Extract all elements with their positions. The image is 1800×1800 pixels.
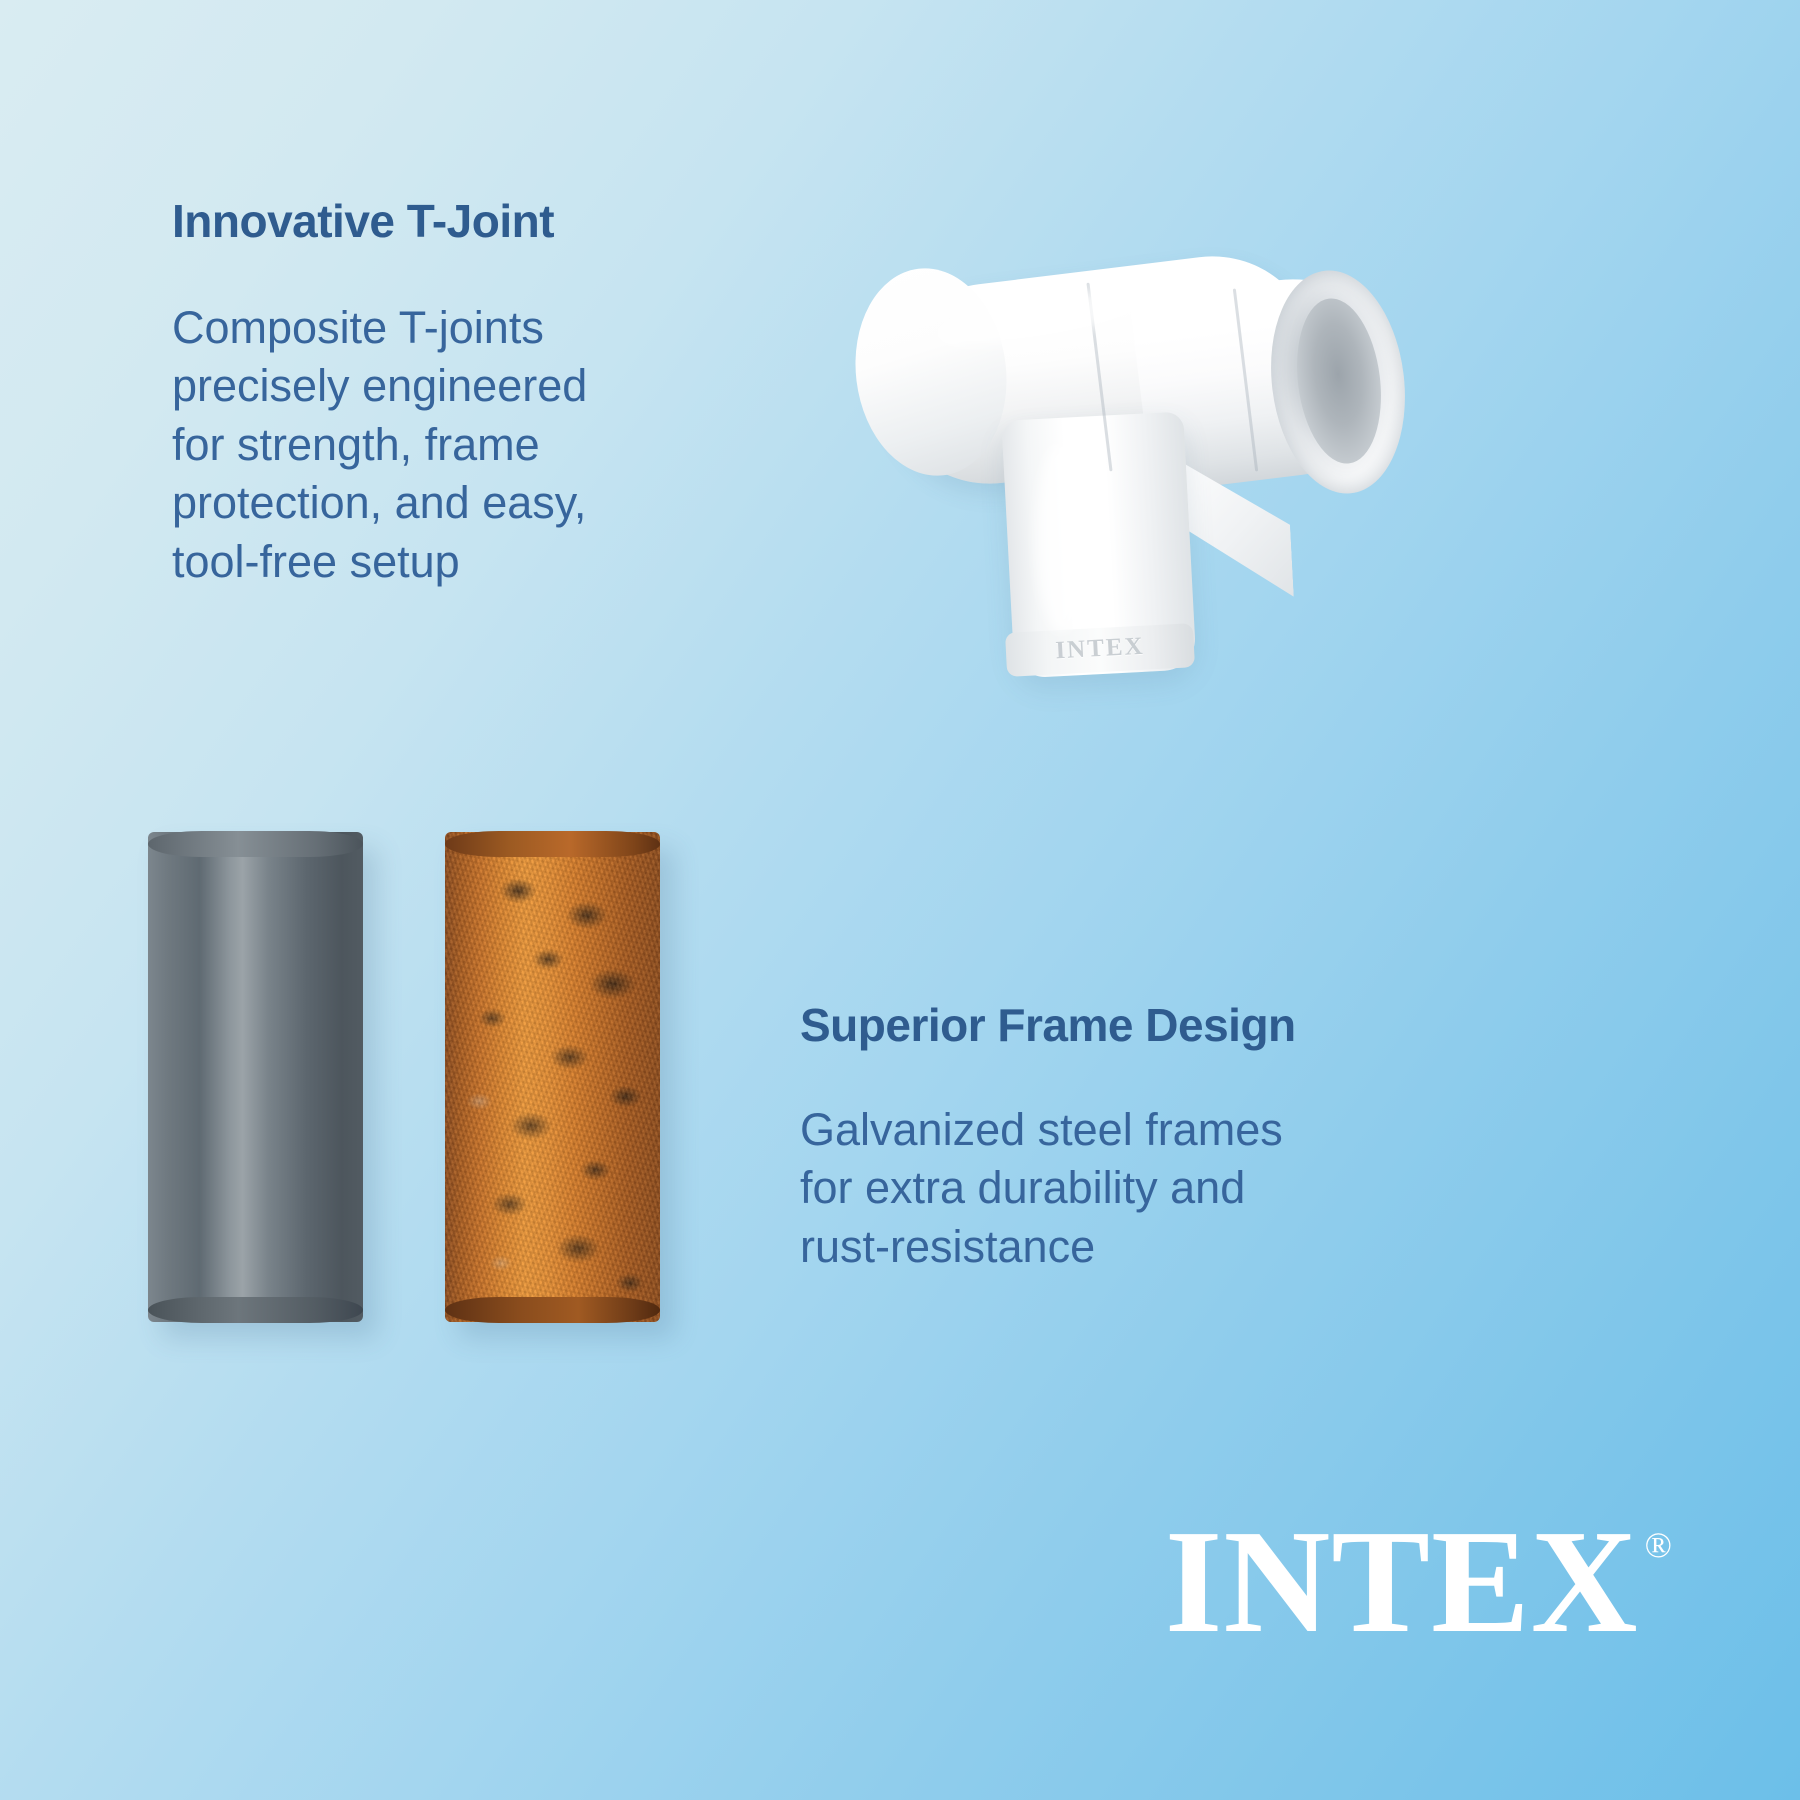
- feature-body-t-joint: Composite T-joints precisely engineered …: [172, 299, 792, 592]
- registered-trademark-icon: ®: [1645, 1527, 1672, 1563]
- feature-block-frame-design: Superior Frame Design Galvanized steel f…: [800, 1000, 1500, 1276]
- feature-heading-t-joint: Innovative T-Joint: [172, 196, 792, 247]
- body-line: tool-free setup: [172, 533, 792, 592]
- pipe-bottom-edge: [445, 1297, 660, 1323]
- feature-block-t-joint: Innovative T-Joint Composite T-joints pr…: [172, 196, 792, 591]
- body-line: for extra durability and: [800, 1159, 1500, 1218]
- intex-logo: INTEX ®: [1165, 1513, 1672, 1652]
- pipe-comparison-group: [148, 832, 708, 1332]
- logo-wordmark: INTEX: [1165, 1513, 1639, 1652]
- galvanized-steel-pipe-sample: [148, 832, 363, 1322]
- feature-body-frame-design: Galvanized steel frames for extra durabi…: [800, 1101, 1500, 1277]
- body-line: protection, and easy,: [172, 474, 792, 533]
- t-joint-product-image: INTEX: [840, 150, 1460, 730]
- product-infographic: Innovative T-Joint Composite T-joints pr…: [0, 0, 1800, 1800]
- body-line: precisely engineered: [172, 357, 792, 416]
- rusted-steel-pipe-sample: [445, 832, 660, 1322]
- body-line: rust-resistance: [800, 1218, 1500, 1277]
- body-line: Composite T-joints: [172, 299, 792, 358]
- t-joint-highlight: [1036, 442, 1086, 632]
- feature-heading-frame-design: Superior Frame Design: [800, 1000, 1500, 1051]
- pipe-top-edge: [148, 831, 363, 857]
- pipe-top-edge: [445, 831, 660, 857]
- rust-texture: [445, 832, 660, 1322]
- body-line: for strength, frame: [172, 416, 792, 475]
- body-line: Galvanized steel frames: [800, 1101, 1500, 1160]
- pipe-bottom-edge: [148, 1297, 363, 1323]
